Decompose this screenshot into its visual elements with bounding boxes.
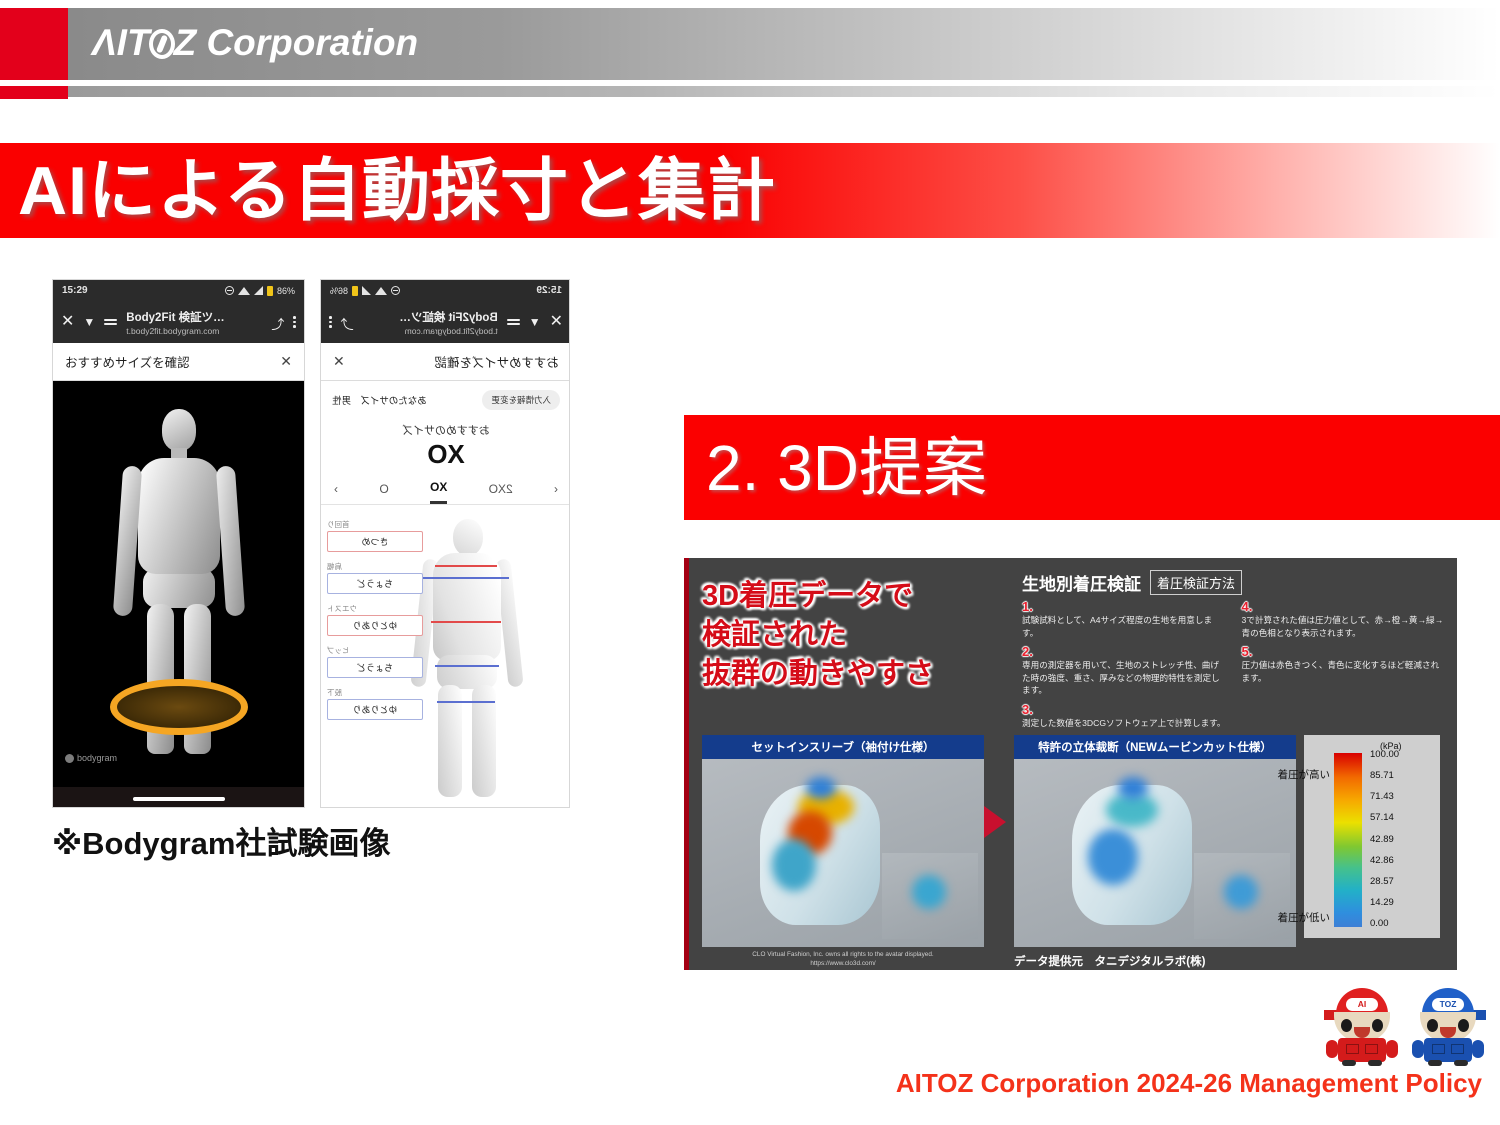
panel-left-render xyxy=(702,759,984,947)
avatar-arm-right xyxy=(215,466,244,617)
measure-caption: ヒップ xyxy=(327,645,423,656)
measurement-item: 股下 ゆとりあり xyxy=(327,687,423,720)
phone-nav-bar-1 xyxy=(53,787,304,808)
logo-prefix: ΛIT xyxy=(92,22,150,63)
measurement-label-column: 首回り きつめ 肩幅 ちょうど ウエスト ゆとりあり ヒップ ちょうど xyxy=(327,519,423,729)
section-title: 2. 3D提案 xyxy=(706,428,987,508)
signal-icon xyxy=(362,286,371,295)
method-column-right: 4. 3で計算された値は圧力値として、赤→橙→黄→緑→青の色相となり表示されます… xyxy=(1242,599,1448,734)
avatar-neck xyxy=(171,448,187,458)
header-gray-strip xyxy=(68,86,1500,97)
aitoz-logo: ΛITZ Corporation xyxy=(92,22,418,64)
wifi-icon xyxy=(238,287,250,295)
legend-tick: 100.00 xyxy=(1370,749,1399,760)
avatar-3d-view[interactable]: bodygram xyxy=(53,381,304,787)
mascot-blue: TOZ xyxy=(1408,988,1488,1066)
browser-title-2: Body2Fit 検証ツ… xyxy=(363,309,498,325)
tab-size-o[interactable]: O xyxy=(379,482,388,503)
measure-value: ちょうど xyxy=(327,657,423,678)
figure-hips xyxy=(437,655,497,689)
browser-title: Body2Fit 検証ツ… xyxy=(126,309,262,325)
bodygram-watermark: bodygram xyxy=(65,753,117,763)
status-bar-1: 15:29 86% xyxy=(53,280,304,301)
legend-tick-labels: 100.00 85.71 71.43 57.14 42.89 42.86 28.… xyxy=(1370,749,1399,929)
status-time-2: 15:29 xyxy=(536,285,562,296)
tab-size-xo[interactable]: XO xyxy=(430,480,447,504)
mascot-pocket-right xyxy=(1451,1044,1464,1054)
inset-heat-spot xyxy=(1224,875,1258,909)
method-block: 生地別着圧検証 着圧検証方法 1. 試験試料として、A4サイズ程度の生地を用意し… xyxy=(1022,570,1447,734)
battery-percent: 86% xyxy=(277,286,295,296)
status-bar-2: 15:29 86% xyxy=(321,280,570,301)
step-text: 測定した数値を3DCGソフトウェア上で計算します。 xyxy=(1022,717,1228,730)
measure-value: ゆとりあり xyxy=(327,699,423,720)
legend-tick: 85.71 xyxy=(1370,770,1399,781)
mascot-eye-right xyxy=(1372,1019,1383,1032)
measure-line-neck xyxy=(435,565,497,567)
legend-tick: 57.14 xyxy=(1370,812,1399,823)
dismiss-icon[interactable]: ✕ xyxy=(333,353,345,370)
mascot-arm-right xyxy=(1472,1040,1484,1058)
legend-tick: 42.89 xyxy=(1370,834,1399,845)
bodygram-watermark-text: bodygram xyxy=(77,753,117,763)
legend-tick: 28.57 xyxy=(1370,876,1399,887)
edit-input-chip[interactable]: 入力情報を変更 xyxy=(482,390,560,410)
overflow-menu-icon[interactable] xyxy=(293,316,296,328)
method-step: 3. 測定した数値を3DCGソフトウェア上で計算します。 xyxy=(1022,702,1228,730)
battery-icon xyxy=(267,286,273,296)
step-text: 3で計算された値は圧力値として、赤→橙→黄→緑→青の色相となり表示されます。 xyxy=(1242,614,1448,639)
header-red-strip xyxy=(0,86,68,99)
clo-credit: CLO Virtual Fashion, Inc. owns all right… xyxy=(702,950,984,968)
method-badge: 着圧検証方法 xyxy=(1150,570,1242,595)
panel-right-title: 特許の立体裁断（NEWムービンカット仕様） xyxy=(1014,735,1296,759)
measure-line-chest xyxy=(431,621,501,623)
avatar-torso xyxy=(138,458,220,574)
mascot-pocket-right xyxy=(1365,1044,1378,1054)
compression-figure: 3D着圧データで 検証された 抜群の動きやすさ 生地別着圧検証 着圧検証方法 1… xyxy=(684,558,1457,970)
heat-spot-head xyxy=(806,777,836,799)
measurement-item: 肩幅 ちょうど xyxy=(327,561,423,594)
avatar-hips xyxy=(143,568,215,608)
measure-line-inseam xyxy=(437,701,495,703)
figure-head xyxy=(453,519,483,556)
mascot-red: AI xyxy=(1322,988,1402,1066)
panel-left-inset xyxy=(882,853,978,939)
bodygram-logo-icon xyxy=(65,754,74,763)
legend-low-label: 着圧が低い xyxy=(1250,910,1330,925)
avatar-arm-left xyxy=(112,466,141,617)
mascot-badge: TOZ xyxy=(1432,998,1464,1011)
figure-torso xyxy=(433,553,501,661)
mascot-eye-left xyxy=(1427,1019,1438,1032)
wifi-icon xyxy=(375,287,387,295)
chevron-down-icon[interactable]: ▼ xyxy=(83,315,95,329)
measure-caption: ウエスト xyxy=(327,603,423,614)
headline-line-2: 検証された xyxy=(702,616,934,655)
method-step: 4. 3で計算された値は圧力値として、赤→橙→黄→緑→青の色相となり表示されます… xyxy=(1242,599,1448,639)
do-not-disturb-icon xyxy=(225,286,234,295)
status-icons: 86% xyxy=(225,286,295,296)
step-number: 1. xyxy=(1022,599,1228,614)
tune-icon[interactable] xyxy=(104,319,117,324)
status-time: 15:29 xyxy=(62,285,88,296)
mascot-foot-right xyxy=(1368,1060,1382,1066)
header-red-block xyxy=(0,8,68,80)
method-step: 2. 専用の測定器を用いて、生地のストレッチ性、曲げた時の強度、重さ、厚みなどの… xyxy=(1022,644,1228,697)
heat-spot-low xyxy=(1088,829,1138,885)
mascot-foot-left xyxy=(1428,1060,1442,1066)
heat-spot-low xyxy=(772,839,816,891)
step-number: 4. xyxy=(1242,599,1448,614)
do-not-disturb-icon xyxy=(391,286,400,295)
method-step: 1. 試験試料として、A4サイズ程度の生地を用意します。 xyxy=(1022,599,1228,639)
step-text: 専用の測定器を用いて、生地のストレッチ性、曲げた時の強度、重さ、厚みなどの物理的… xyxy=(1022,659,1228,697)
method-step: 5. 圧力値は赤色きつく、青色に変化するほど軽減されます。 xyxy=(1242,644,1448,684)
step-text: 圧力値は赤色きつく、青色に変化するほど軽減されます。 xyxy=(1242,659,1448,684)
measure-caption: 股下 xyxy=(327,687,423,698)
overflow-menu-icon[interactable] xyxy=(329,316,332,328)
page-header: ΛITZ Corporation xyxy=(0,0,1500,100)
legend-gradient-bar: 着圧が高い 着圧が低い xyxy=(1334,753,1362,927)
phone-nav-bar-2 xyxy=(321,807,570,808)
recommended-size-value: XO xyxy=(321,439,570,470)
mascot-foot-left xyxy=(1342,1060,1356,1066)
share-icon[interactable] xyxy=(341,316,354,329)
legend-tick: 14.29 xyxy=(1370,897,1399,908)
signal-icon xyxy=(254,286,263,295)
measure-caption: 肩幅 xyxy=(327,561,423,572)
mascot-pocket-left xyxy=(1432,1044,1445,1054)
browser-url-2: t.body2fit.bodygram.com xyxy=(363,326,498,336)
legend-tick: 42.86 xyxy=(1370,855,1399,866)
close-icon[interactable]: ✕ xyxy=(61,314,74,330)
status-icons-2: 86% xyxy=(330,286,400,296)
recommended-size-label: おすすめのサイズ xyxy=(321,422,570,438)
clo-credit-line2: https://www.clo3d.com/ xyxy=(702,959,984,968)
recommend-bar-label-2: おすすめサイズを確認 xyxy=(434,352,559,371)
mascot-body xyxy=(1338,1038,1386,1062)
method-column-left: 1. 試験試料として、A4サイズ程度の生地を用意します。 2. 専用の測定器を用… xyxy=(1022,599,1228,734)
phone-screenshot-1: 15:29 86% ✕ ▼ Body2Fit 検証ツ… t.body2fit.b… xyxy=(52,279,305,808)
method-header: 生地別着圧検証 着圧検証方法 xyxy=(1022,570,1447,595)
method-title: 生地別着圧検証 xyxy=(1022,570,1141,595)
browser-title-wrap: Body2Fit 検証ツ… t.body2fit.bodygram.com xyxy=(126,309,262,336)
measure-value: ゆとりあり xyxy=(327,615,423,636)
legend-high-label: 着圧が高い xyxy=(1250,767,1330,782)
measure-value: きつめ xyxy=(327,531,423,552)
logo-o-icon xyxy=(149,29,175,59)
measurement-item: ヒップ ちょうど xyxy=(327,645,423,678)
step-text: 試験試料として、A4サイズ程度の生地を用意します。 xyxy=(1022,614,1228,639)
home-indicator xyxy=(133,797,225,801)
recommend-size-bar-2[interactable]: おすすめサイズを確認 ✕ xyxy=(321,343,570,381)
method-columns: 1. 試験試料として、A4サイズ程度の生地を用意します。 2. 専用の測定器を用… xyxy=(1022,599,1447,734)
mascot-badge: AI xyxy=(1346,998,1378,1011)
panel-left-title: セットインスリーブ（袖付け仕様） xyxy=(702,735,984,759)
dismiss-icon[interactable]: ✕ xyxy=(280,353,292,370)
close-icon[interactable]: ✕ xyxy=(550,314,563,330)
pressure-colorbar-legend: (kPa) 着圧が高い 着圧が低い 100.00 85.71 71.43 57.… xyxy=(1304,735,1440,938)
tab-next-arrow[interactable]: › xyxy=(334,482,338,503)
arrow-right-icon xyxy=(984,806,1006,838)
mascot-foot-right xyxy=(1454,1060,1468,1066)
browser-title-wrap-2: Body2Fit 検証ツ… t.body2fit.bodygram.com xyxy=(363,309,498,336)
mascot-pocket-left xyxy=(1346,1044,1359,1054)
avatar-head xyxy=(162,409,196,451)
recommend-size-bar-1[interactable]: おすすめサイズを確認 ✕ xyxy=(53,343,304,381)
size-result-header: 入力情報を変更 あなたのサイズ 男性 xyxy=(321,381,570,414)
browser-toolbar-1: ✕ ▼ Body2Fit 検証ツ… t.body2fit.bodygram.co… xyxy=(53,301,304,343)
figure-accent-bar xyxy=(684,558,689,970)
data-provider-credit: データ提供元 タニデジタルラボ(株) xyxy=(1014,953,1296,969)
clo-credit-line1: CLO Virtual Fashion, Inc. owns all right… xyxy=(702,950,984,959)
inset-heat-spot xyxy=(912,875,946,909)
measurement-item: 首回り きつめ xyxy=(327,519,423,552)
mascot-body xyxy=(1424,1038,1472,1062)
measurement-item: ウエスト ゆとりあり xyxy=(327,603,423,636)
mascot-mouth xyxy=(1440,1027,1456,1038)
chevron-down-icon[interactable]: ▼ xyxy=(529,315,541,329)
page-title: AIによる自動採寸と集計 xyxy=(18,152,776,230)
mascot-mouth xyxy=(1354,1027,1370,1038)
headline-line-1: 3D着圧データで xyxy=(702,577,934,616)
mascot-characters: AI TOZ xyxy=(1322,988,1492,1066)
browser-url: t.body2fit.bodygram.com xyxy=(126,326,262,336)
fit-figure-view[interactable]: 首回り きつめ 肩幅 ちょうど ウエスト ゆとりあり ヒップ ちょうど xyxy=(321,505,570,807)
measure-value: ちょうど xyxy=(327,573,423,594)
measure-caption: 首回り xyxy=(327,519,423,530)
panel-right-inset xyxy=(1194,853,1290,939)
photo-caption: ※Bodygram社試験画像 xyxy=(52,818,390,863)
avatar-platform-ellipse xyxy=(110,679,248,735)
size-tabs: ‹ 2XO XO O › xyxy=(321,470,570,504)
step-number: 2. xyxy=(1022,644,1228,659)
mascot-arm-right xyxy=(1386,1040,1398,1058)
phone-screenshot-2: 15:29 86% ✕ ▼ Body2Fit 検証ツ… t.body2fit.b… xyxy=(320,279,570,808)
your-size-label: あなたのサイズ 男性 xyxy=(332,393,427,407)
battery-icon xyxy=(352,286,358,296)
measure-line-hip xyxy=(435,665,499,667)
battery-percent-2: 86% xyxy=(330,286,348,296)
step-number: 5. xyxy=(1242,644,1448,659)
compression-headline: 3D着圧データで 検証された 抜群の動きやすさ xyxy=(702,577,934,694)
phone-2-mirrored-content: 15:29 86% ✕ ▼ Body2Fit 検証ツ… t.body2fit.b… xyxy=(321,280,570,808)
mascot-eye-left xyxy=(1341,1019,1352,1032)
browser-toolbar-2: ✕ ▼ Body2Fit 検証ツ… t.body2fit.bodygram.co… xyxy=(321,301,570,343)
step-number: 3. xyxy=(1022,702,1228,717)
mascot-eye-right xyxy=(1458,1019,1469,1032)
tab-size-2xo[interactable]: 2XO xyxy=(489,482,513,503)
headline-line-3: 抜群の動きやすさ xyxy=(702,655,934,694)
footer-policy-text: AITOZ Corporation 2024-26 Management Pol… xyxy=(896,1068,1482,1099)
heat-spot-head xyxy=(1118,777,1148,799)
legend-tick: 71.43 xyxy=(1370,791,1399,802)
panel-set-in-sleeve: セットインスリーブ（袖付け仕様） CLO Virtual Fashion, In… xyxy=(702,735,984,968)
mascot-arm-left xyxy=(1326,1040,1338,1058)
logo-suffix: Z Corporation xyxy=(174,22,419,63)
share-icon[interactable] xyxy=(271,316,284,329)
mascot-arm-left xyxy=(1412,1040,1424,1058)
tab-prev-arrow[interactable]: ‹ xyxy=(554,482,558,503)
measure-line-shoulder xyxy=(423,577,509,579)
recommend-bar-label: おすすめサイズを確認 xyxy=(65,352,190,371)
tune-icon[interactable] xyxy=(507,319,520,324)
legend-tick: 0.00 xyxy=(1370,918,1399,929)
